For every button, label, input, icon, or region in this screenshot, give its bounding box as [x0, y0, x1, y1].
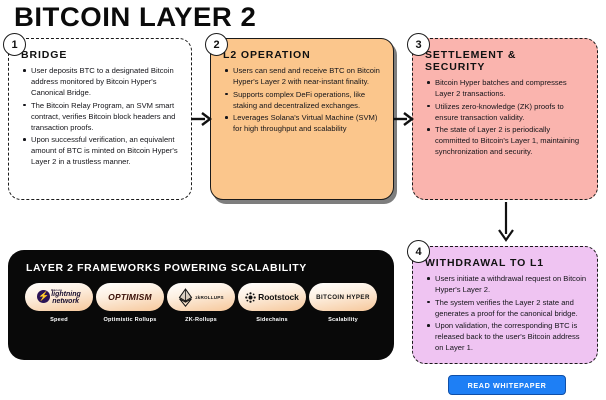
- list-item: Upon validation, the corresponding BTC i…: [425, 320, 587, 353]
- bitcoin-hyper-brand: BITCOIN HYPER: [316, 294, 370, 301]
- list-item: User deposits BTC to a designated Bitcoi…: [21, 65, 181, 98]
- step-card-title: WITHDRAWAL TO L1: [425, 257, 587, 269]
- step-bullet-list: User deposits BTC to a designated Bitcoi…: [21, 65, 181, 167]
- read-whitepaper-button[interactable]: READ WHITEPAPER: [448, 375, 566, 395]
- list-item: Bitcoin Hyper batches and compresses Lay…: [425, 77, 587, 99]
- ethereum-diamond-icon: [178, 288, 193, 307]
- list-item: The state of Layer 2 is periodically com…: [425, 124, 587, 157]
- framework-item-zkrollups[interactable]: zkROLLUPS ZK-Rollups: [166, 283, 236, 323]
- step-bullet-list: Users can send and receive BTC on Bitcoi…: [223, 65, 383, 134]
- frameworks-panel: LAYER 2 FRAMEWORKS POWERING SCALABILITY …: [8, 250, 394, 360]
- framework-item-lightning[interactable]: ⚡ Bitcoin lightning network Speed: [24, 283, 94, 323]
- step-badge-3: 3: [407, 33, 430, 56]
- step-card-title: L2 OPERATION: [223, 49, 383, 61]
- list-item: Users initiate a withdrawal request on B…: [425, 273, 587, 295]
- framework-caption: Sidechains: [256, 317, 288, 323]
- rootstock-logo: Rootstock: [238, 283, 306, 311]
- list-item: Leverages Solana's Virtual Machine (SVM)…: [223, 112, 383, 134]
- step-badge-1: 1: [3, 33, 26, 56]
- optimism-brand: OPTIMISM: [108, 292, 152, 302]
- step-bullet-list: Users initiate a withdrawal request on B…: [425, 273, 587, 353]
- lightning-bolt-icon: ⚡: [37, 290, 50, 303]
- framework-caption: ZK-Rollups: [185, 317, 217, 323]
- step-badge-4: 4: [407, 240, 430, 263]
- frameworks-row: ⚡ Bitcoin lightning network Speed OPTIMI…: [22, 283, 380, 323]
- framework-caption: Speed: [50, 317, 68, 323]
- zkrollups-brand: zkROLLUPS: [195, 295, 224, 300]
- step-bullet-list: Bitcoin Hyper batches and compresses Lay…: [425, 77, 587, 157]
- lightning-network-logo: ⚡ Bitcoin lightning network: [25, 283, 93, 311]
- rootstock-brand: Rootstock: [258, 292, 299, 302]
- list-item: The system verifies the Layer 2 state an…: [425, 297, 587, 319]
- arrow-down-icon: [495, 200, 517, 244]
- framework-item-rootstock[interactable]: Rootstock Sidechains: [237, 283, 307, 323]
- optimism-logo: OPTIMISM: [96, 283, 164, 311]
- step-card-settlement-security: SETTLEMENT & SECURITY Bitcoin Hyper batc…: [412, 38, 598, 200]
- list-item: Utilizes zero-knowledge (ZK) proofs to e…: [425, 101, 587, 123]
- framework-caption: Scalability: [328, 317, 358, 323]
- step-card-title: SETTLEMENT & SECURITY: [425, 49, 587, 73]
- frameworks-heading: LAYER 2 FRAMEWORKS POWERING SCALABILITY: [26, 262, 380, 274]
- step-card-title: BRIDGE: [21, 49, 181, 61]
- list-item: Users can send and receive BTC on Bitcoi…: [223, 65, 383, 87]
- framework-item-bitcoin-hyper[interactable]: BITCOIN HYPER Scalability: [308, 283, 378, 323]
- lightning-brand-line1: lightning: [51, 291, 81, 298]
- arrow-right-icon: [392, 108, 414, 130]
- rootstock-mark-icon: [245, 292, 256, 303]
- step-card-l2-operation: L2 OPERATION Users can send and receive …: [210, 38, 394, 200]
- arrow-right-icon: [190, 108, 212, 130]
- infographic-canvas: BITCOIN LAYER 2 1 BRIDGE User deposits B…: [0, 0, 606, 400]
- list-item: The Bitcoin Relay Program, an SVM smart …: [21, 100, 181, 133]
- zkrollups-logo: zkROLLUPS: [167, 283, 235, 311]
- lightning-brand-line2: network: [52, 298, 81, 305]
- step-card-withdrawal-to-l1: WITHDRAWAL TO L1 Users initiate a withdr…: [412, 246, 598, 364]
- list-item: Supports complex DeFi operations, like s…: [223, 89, 383, 111]
- bitcoin-hyper-logo: BITCOIN HYPER: [309, 283, 377, 311]
- framework-caption: Optimistic Rollups: [103, 317, 156, 323]
- step-card-bridge: BRIDGE User deposits BTC to a designated…: [8, 38, 192, 200]
- step-badge-2: 2: [205, 33, 228, 56]
- list-item: Upon successful verification, an equival…: [21, 134, 181, 167]
- framework-item-optimism[interactable]: OPTIMISM Optimistic Rollups: [95, 283, 165, 323]
- page-title: BITCOIN LAYER 2: [14, 2, 256, 33]
